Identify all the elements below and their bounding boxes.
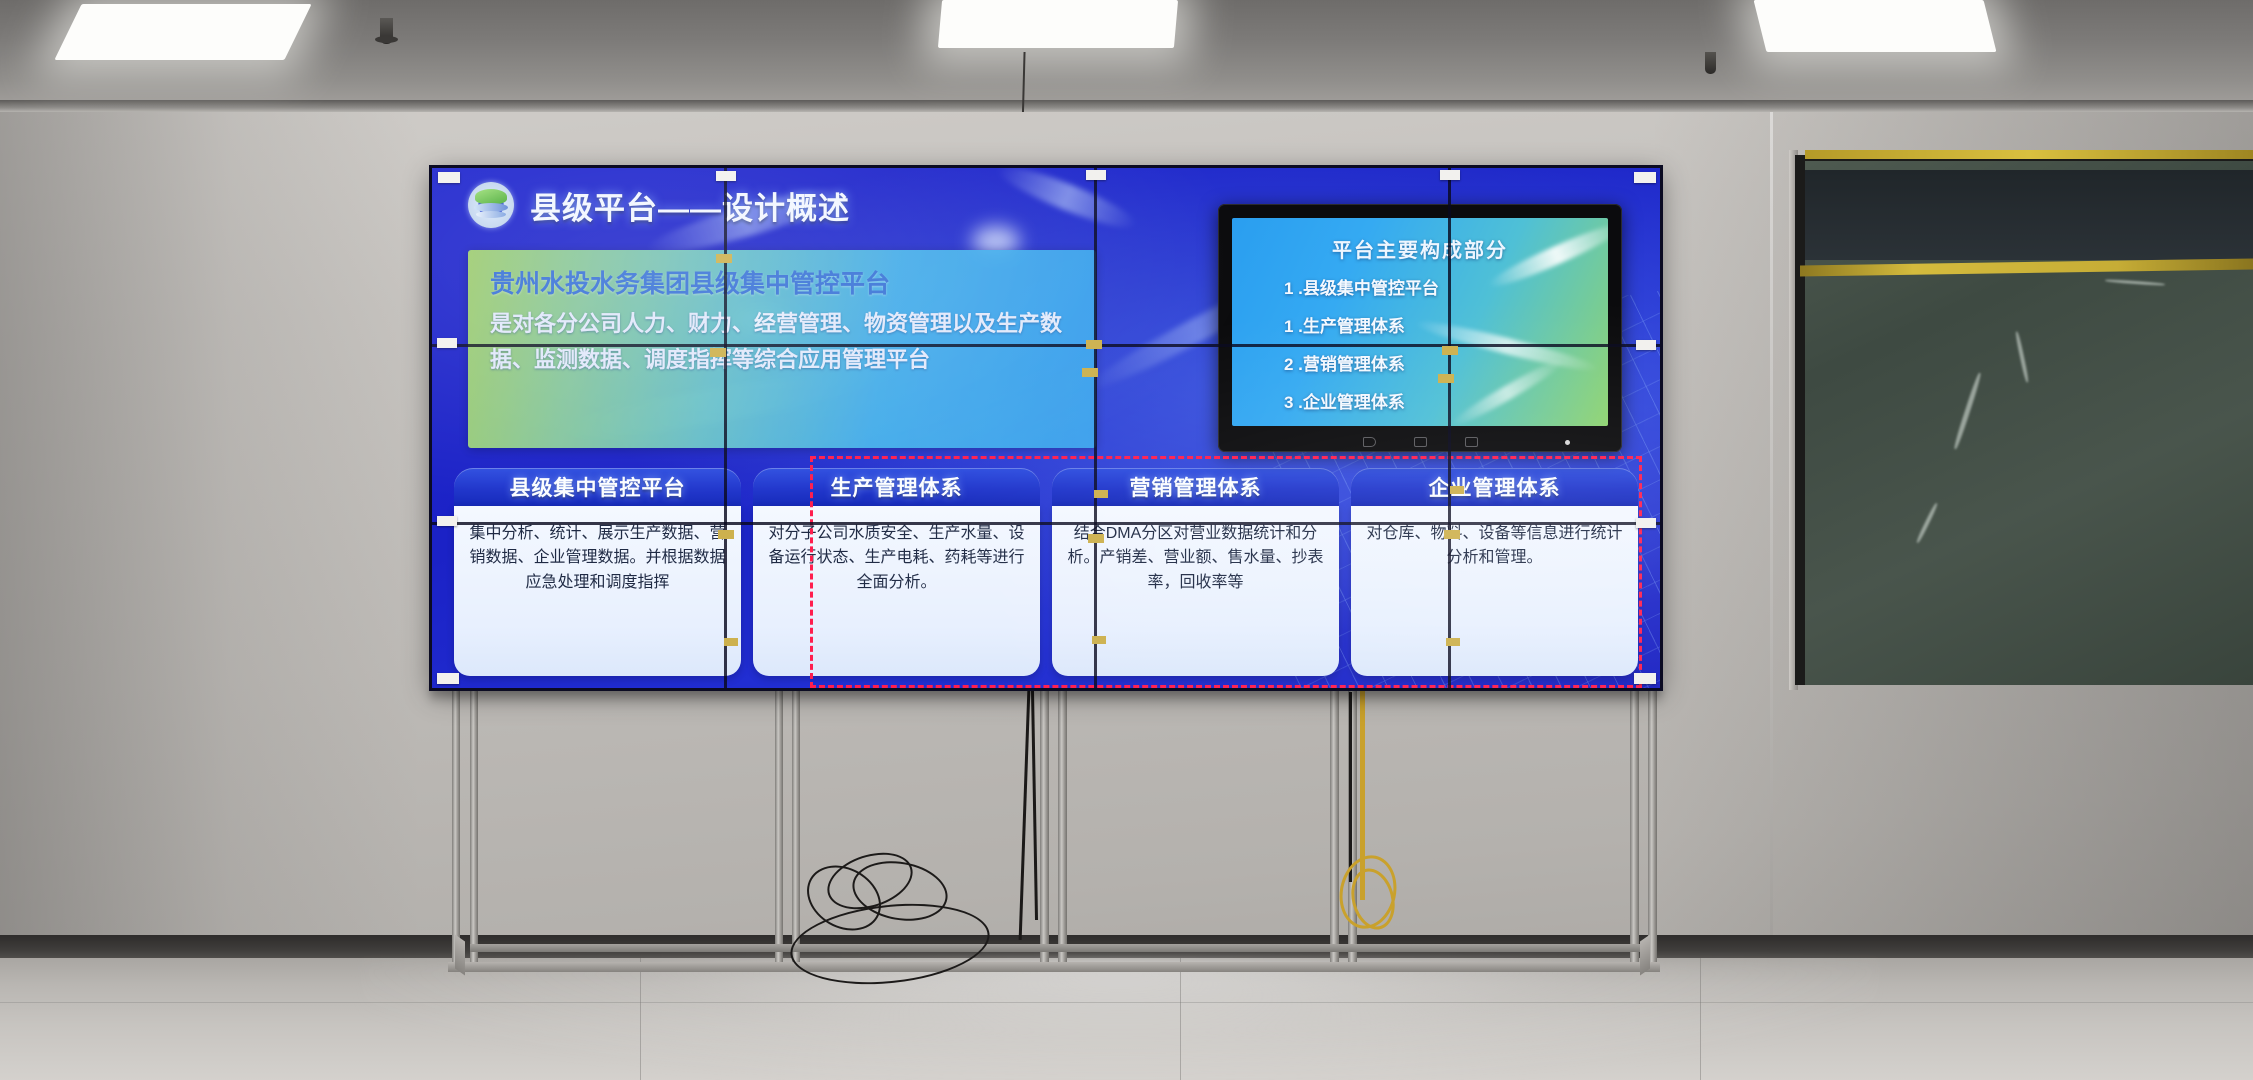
calibration-tape-mark-yellow — [1444, 530, 1460, 539]
card-title: 营销管理体系 — [1130, 472, 1262, 502]
calibration-tape-mark — [1636, 340, 1656, 350]
calibration-tape-mark-yellow — [1088, 534, 1104, 543]
stand-base-rail-front — [448, 962, 1660, 972]
stand-leg — [1040, 688, 1049, 970]
card-header: 企业管理体系 — [1351, 468, 1638, 506]
stand-base-rail-back — [470, 944, 1650, 952]
inner-monitor-screen: 平台主要构成部分 1 .县级集中管控平台 1 .生产管理体系 2 .营销管理体系… — [1232, 218, 1608, 426]
slide-title: 县级平台——设计概述 — [530, 183, 850, 228]
calibration-tape-mark-yellow — [718, 530, 734, 539]
floor-tile-seam — [1700, 958, 1701, 1080]
window-scratch — [2015, 331, 2030, 383]
inner-monitor-title: 平台主要构成部分 — [1232, 234, 1608, 263]
power-indicator-led — [1565, 440, 1570, 445]
logo-leaf-shape — [475, 189, 507, 204]
calibration-tape-mark — [1440, 170, 1460, 180]
card-title: 县级集中管控平台 — [510, 472, 686, 502]
ceiling-light-panel-right — [1754, 0, 1997, 52]
list-item: 3 .企业管理体系 — [1284, 388, 1439, 413]
calibration-tape-mark — [437, 673, 459, 684]
overview-panel: 贵州水投水务集团县级集中管控平台 是对各分公司人力、财力、经营管理、物资管理以及… — [468, 250, 1096, 448]
window-scratch — [1953, 372, 1982, 450]
calibration-tape-mark-yellow — [1450, 486, 1464, 494]
floor-reflection-gloss — [360, 960, 1880, 1080]
panel-seam-vertical — [724, 168, 727, 688]
video-wall[interactable]: 县级平台——设计概述 贵州水投水务集团县级集中管控平台 是对各分公司人力、财力、… — [432, 168, 1660, 688]
calibration-tape-mark — [1636, 518, 1656, 528]
calibration-tape-mark-yellow — [716, 254, 732, 263]
window-transom-panel — [1805, 170, 2253, 260]
calibration-tape-mark — [716, 171, 736, 181]
overview-panel-title: 贵州水投水务集团县级集中管控平台 — [490, 264, 1090, 300]
slide-header: 县级平台——设计概述 — [468, 182, 850, 228]
calibration-tape-mark-yellow — [1094, 490, 1108, 498]
card-header: 生产管理体系 — [753, 468, 1040, 506]
stand-leg — [1648, 688, 1657, 970]
card-row: 县级集中管控平台 集中分析、统计、展示生产数据、营销数据、企业管理数据。并根据数… — [432, 468, 1660, 688]
screenshot-root: 县级平台——设计概述 贵州水投水务集团县级集中管控平台 是对各分公司人力、财力、… — [0, 0, 2253, 1080]
panel-seam-vertical — [1094, 168, 1097, 688]
card-header: 县级集中管控平台 — [454, 468, 741, 506]
calibration-tape-mark — [1086, 170, 1106, 180]
calibration-tape-mark-yellow — [1442, 346, 1458, 355]
stand-foot-bracket — [1640, 934, 1650, 975]
decorative-swoosh — [1447, 354, 1567, 426]
calibration-tape-mark — [438, 172, 460, 183]
window-scratch — [1916, 502, 1939, 543]
floor-tile-seam — [1180, 958, 1181, 1080]
calibration-tape-mark-yellow — [1082, 368, 1098, 377]
calibration-tape-mark-yellow — [1086, 340, 1102, 349]
stand-leg — [792, 688, 800, 970]
overview-panel-body: 是对各分公司人力、财力、经营管理、物资管理以及生产数据、监测数据、调度指挥等综合… — [490, 306, 1086, 377]
card-body: 集中分析、统计、展示生产数据、营销数据、企业管理数据。并根据数据应急处理和调度指… — [454, 506, 741, 676]
list-item: 1 .生产管理体系 — [1284, 312, 1439, 337]
calibration-tape-mark — [437, 338, 457, 348]
floor-tile-seam — [640, 958, 641, 1080]
stand-leg — [1058, 688, 1067, 970]
stand-leg — [775, 688, 783, 970]
card-title: 生产管理体系 — [831, 472, 963, 502]
wall-shadow-left — [0, 112, 420, 972]
fire-sprinkler-head — [380, 18, 393, 44]
stand-leg — [470, 688, 478, 970]
recents-nav-button-icon[interactable] — [1465, 437, 1478, 447]
calibration-tape-mark-yellow — [724, 638, 738, 646]
calibration-tape-mark — [437, 516, 457, 526]
stand-foot-bracket — [455, 934, 465, 975]
list-item: 2 .营销管理体系 — [1284, 350, 1439, 375]
inner-monitor[interactable]: 平台主要构成部分 1 .县级集中管控平台 1 .生产管理体系 2 .营销管理体系… — [1218, 204, 1622, 452]
stand-leg — [1630, 688, 1639, 970]
back-nav-button-icon[interactable] — [1363, 437, 1376, 447]
water-group-logo-icon — [468, 182, 514, 228]
floor-tile-line — [0, 1002, 2253, 1003]
panel-seam-horizontal — [432, 344, 1660, 347]
card-body: 对仓库、物料、设备等信息进行统计分析和管理。 — [1351, 506, 1638, 676]
calibration-tape-mark — [1634, 172, 1656, 183]
card-enterprise-system[interactable]: 企业管理体系 对仓库、物料、设备等信息进行统计分析和管理。 — [1351, 468, 1638, 688]
calibration-tape-mark-yellow — [1438, 374, 1454, 383]
ceiling-light-panel-left — [54, 4, 311, 60]
panel-seam-horizontal — [432, 522, 1660, 525]
black-cable-run — [1349, 692, 1352, 882]
card-county-platform[interactable]: 县级集中管控平台 集中分析、统计、展示生产数据、营销数据、企业管理数据。并根据数… — [454, 468, 741, 688]
window-yellow-tape-top — [1805, 150, 2253, 159]
list-item: 1 .县级集中管控平台 — [1284, 274, 1439, 299]
calibration-tape-mark — [1634, 673, 1656, 684]
calibration-tape-mark-yellow — [710, 348, 726, 357]
inner-monitor-list: 1 .县级集中管控平台 1 .生产管理体系 2 .营销管理体系 3 .企业管理体… — [1284, 274, 1439, 426]
stand-leg — [1330, 688, 1339, 970]
wall-corner-edge — [1770, 112, 1773, 972]
ceiling-light-panel-center — [938, 0, 1178, 48]
inner-monitor-nav-bar[interactable] — [1218, 437, 1622, 447]
panel-seam-vertical — [1448, 168, 1451, 688]
calibration-tape-mark-yellow — [1446, 638, 1460, 646]
home-nav-button-icon[interactable] — [1414, 437, 1427, 447]
fire-sprinkler-head-secondary — [1705, 52, 1716, 74]
card-body: 对分子公司水质安全、生产水量、设备运行状态、生产电耗、药耗等进行全面分析。 — [753, 506, 1040, 676]
stand-leg — [452, 688, 460, 970]
card-production-system[interactable]: 生产管理体系 对分子公司水质安全、生产水量、设备运行状态、生产电耗、药耗等进行全… — [753, 468, 1040, 688]
window-scratch — [2105, 279, 2165, 286]
calibration-tape-mark-yellow — [1092, 636, 1106, 644]
logo-wave-shape-secondary — [476, 211, 506, 218]
videowall-drop-shadow — [430, 686, 1662, 704]
